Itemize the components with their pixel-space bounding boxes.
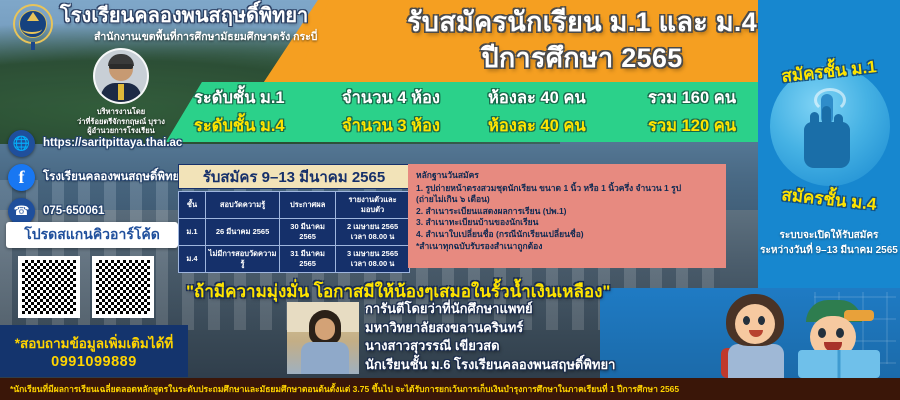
director-avatar: [93, 48, 149, 104]
cell-result-m4: 31 มีนาคม 2565: [280, 246, 336, 273]
hand-tap-icon: [804, 96, 850, 168]
quota-row-m1: ระดับชั้น ม.1 จำนวน 4 ห้อง ห้องละ 40 คน …: [186, 84, 826, 112]
cell-report-m1-time: เวลา 08.00 น: [337, 232, 408, 242]
qr-code-left[interactable]: [18, 256, 80, 318]
cell-exam-m1: 26 มีนาคม 2565: [206, 219, 280, 246]
footer-note-bar: *นักเรียนที่มีผลการเรียนเฉลี่ยตลอดหลักสู…: [0, 378, 900, 400]
quota-m4-rooms: จำนวน 3 ห้อง: [342, 113, 488, 139]
director-block: บริหารงานโดย ว่าที่ร้อยตรีจักรกฤษณ์ บุรา…: [62, 48, 180, 136]
quota-m4-per-room: ห้องละ 40 คน: [488, 113, 648, 139]
cell-report-m4: 3 เมษายน 2565 เวลา 08.00 น: [336, 246, 410, 273]
director-caption-line2: ว่าที่ร้อยตรีจักรกฤษณ์ บุราง: [62, 117, 180, 127]
director-caption-line1: บริหารงานโดย: [62, 107, 180, 117]
schedule-block: รับสมัคร 9–13 มีนาคม 2565 ชั้น สอบวัดควา…: [178, 164, 410, 273]
cta-note-line2: ระหว่างวันที่ 9–13 มีนาคม 2565: [758, 243, 900, 258]
cell-report-m4-date: 3 เมษายน 2565: [337, 249, 408, 259]
apply-cta-panel[interactable]: สมัครชั้น ม.1 สมัครชั้น ม.4 ระบบจะเปิดให…: [758, 0, 900, 288]
cell-report-m1: 2 เมษายน 2565 เวลา 08.00 น: [336, 219, 410, 246]
table-row: ม.1 26 มีนาคม 2565 30 มีนาคม 2565 2 เมษา…: [179, 219, 410, 246]
document-item: (ถ่ายไม่เกิน ๖ เดือน): [416, 194, 718, 206]
cta-note: ระบบจะเปิดให้รับสมัคร ระหว่างวันที่ 9–13…: [758, 228, 900, 258]
website-url: https://saritpittaya.thai.ac: [43, 137, 182, 149]
table-header-row: ชั้น สอบวัดความรู้ ประกาศผล รายงานตัวและ…: [179, 192, 410, 219]
school-office: สำนักงานเขตพื้นที่การศึกษามัธยมศึกษาตรัง…: [94, 28, 317, 45]
document-item: 1. รูปถ่ายหน้าตรงสวมชุดนักเรียน ขนาด 1 น…: [416, 183, 718, 195]
document-item: 3. สำเนาทะเบียนบ้านของนักเรียน: [416, 217, 718, 229]
cell-result-m1: 30 มีนาคม 2565: [280, 219, 336, 246]
col-level: ชั้น: [179, 192, 206, 219]
document-item: 2. สำเนาระเบียนแสดงผลการเรียน (ปพ.1): [416, 206, 718, 218]
testimonial-line3: นางสาวสุวรรณี เขียวสด: [365, 337, 615, 356]
quota-rows: ระดับชั้น ม.1 จำนวน 4 ห้อง ห้องละ 40 คน …: [186, 84, 826, 140]
schedule-title-bar: รับสมัคร 9–13 มีนาคม 2565: [178, 164, 410, 189]
quota-m1-rooms: จำนวน 4 ห้อง: [342, 85, 488, 111]
col-result: ประกาศผล: [280, 192, 336, 219]
schedule-table: ชั้น สอบวัดความรู้ ประกาศผล รายงานตัวและ…: [178, 191, 410, 273]
document-note: *สำเนาทุกฉบับรับรองสำเนาถูกต้อง: [416, 241, 718, 253]
cell-report-m1-date: 2 เมษายน 2565: [337, 222, 408, 232]
phone-icon: ☎: [8, 198, 35, 225]
school-crest-icon: [12, 4, 54, 48]
cell-report-m4-time: เวลา 08.00 น: [337, 259, 408, 269]
testimonial-line4: นักเรียนชั้น ม.6 โรงเรียนคลองพนสฤษดิ์พิท…: [365, 356, 615, 375]
schedule-title: รับสมัคร 9–13 มีนาคม 2565: [203, 165, 385, 189]
quota-m4-level: ระดับชั้น ม.4: [194, 113, 342, 139]
contact-list: 🌐 https://saritpittaya.thai.ac f โรงเรีย…: [8, 126, 188, 228]
col-report: รายงานตัวและมอบตัว: [336, 192, 410, 219]
documents-heading: หลักฐานวันสมัคร: [416, 170, 718, 182]
cell-exam-m4: ไม่มีการสอบวัดความรู้: [206, 246, 280, 273]
document-item: 4. สำเนาใบเปลี่ยนชื่อ (กรณีนักเรียนเปลี่…: [416, 229, 718, 241]
scan-prompt-bar: โปรดสแกนคิวอาร์โค้ด: [6, 222, 178, 248]
ask-phone: 0991099889: [51, 354, 137, 370]
globe-icon: 🌐: [8, 130, 35, 157]
quota-row-m4: ระดับชั้น ม.4 จำนวน 3 ห้อง ห้องละ 40 คน …: [186, 112, 826, 140]
qr-code-group: [18, 256, 178, 318]
scan-prompt-text: โปรดสแกนคิวอาร์โค้ด: [24, 224, 160, 246]
phone-number: 075-650061: [43, 205, 104, 217]
contact-item-facebook[interactable]: f โรงเรียนคลองพนสฤษดิ์พิทยา: [8, 160, 188, 194]
testimonial-text: การันตีโดยว่าที่นักศึกษาแพทย์ มหาวิทยาลั…: [365, 300, 615, 374]
school-identity: โรงเรียนคลองพนสฤษดิ์พิทยา สำนักงานเขตพื้…: [8, 2, 338, 48]
col-exam: สอบวัดความรู้: [206, 192, 280, 219]
footer-note: *นักเรียนที่มีผลการเรียนเฉลี่ยตลอดหลักสู…: [0, 382, 679, 396]
required-documents-panel: หลักฐานวันสมัคร 1. รูปถ่ายหน้าตรงสวมชุดน…: [408, 164, 726, 268]
cell-level-m1: ม.1: [179, 219, 206, 246]
table-row: ม.4 ไม่มีการสอบวัดความรู้ 31 มีนาคม 2565…: [179, 246, 410, 273]
cta-note-line1: ระบบจะเปิดให้รับสมัคร: [758, 228, 900, 243]
contact-item-website[interactable]: 🌐 https://saritpittaya.thai.ac: [8, 126, 188, 160]
admission-banner: รับสมัครนักเรียน ม.1 และ ม.4 ปีการศึกษา …: [0, 0, 900, 400]
testimonial-line2: มหาวิทยาลัยสงขลานครินทร์: [365, 319, 615, 338]
facebook-icon: f: [8, 164, 35, 191]
quota-m1-level: ระดับชั้น ม.1: [194, 85, 342, 111]
facebook-page-name: โรงเรียนคลองพนสฤษดิ์พิทยา: [43, 168, 186, 186]
school-name: โรงเรียนคลองพนสฤษดิ์พิทยา: [60, 4, 308, 28]
cell-level-m4: ม.4: [179, 246, 206, 273]
ask-line1: *สอบถามข้อมูลเพิ่มเติมได้ที่: [15, 332, 173, 354]
quota-m1-per-room: ห้องละ 40 คน: [488, 85, 648, 111]
testimonial-line1: การันตีโดยว่าที่นักศึกษาแพทย์: [365, 300, 615, 319]
contact-info-box: *สอบถามข้อมูลเพิ่มเติมได้ที่ 0991099889: [0, 325, 188, 377]
testimonial-student-photo: [287, 302, 359, 374]
qr-code-right[interactable]: [92, 256, 154, 318]
girl-student-illustration: [718, 290, 796, 378]
boy-student-illustration: [796, 298, 882, 378]
